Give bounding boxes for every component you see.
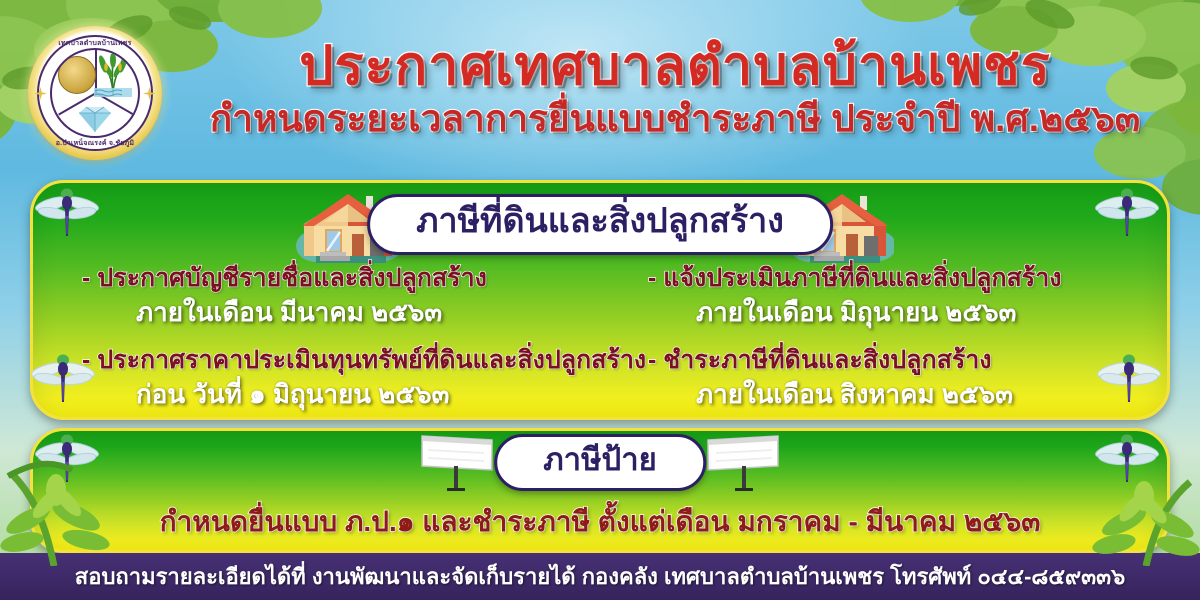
item-title: - ประกาศราคาประเมินทุนทรัพย์ที่ดินและสิ่… <box>82 344 590 376</box>
land-building-tax-label: ภาษีที่ดินและสิ่งปลูกสร้าง <box>416 200 784 244</box>
crop-plant-icon <box>92 54 134 98</box>
contact-footer: สอบถามรายละเอียดได้ที่ งานพัฒนาและจัดเก็… <box>0 553 1200 600</box>
list-item: - แจ้งประเมินภาษีที่ดินและสิ่งปลูกสร้าง … <box>648 262 1160 330</box>
land-building-tax-heading: ภาษีที่ดินและสิ่งปลูกสร้าง <box>367 194 833 255</box>
seal-text-bottom: อ.บำเหน็จณรงค์ จ.ชัยภูมิ <box>28 138 162 149</box>
list-item: - ประกาศราคาประเมินทุนทรัพย์ที่ดินและสิ่… <box>82 344 590 412</box>
item-deadline: ภายในเดือน มีนาคม ๒๕๖๓ <box>82 296 590 330</box>
municipality-seal-icon: เทศบาลตำบลบ้านเพชร อ.บำเหน็จณรงค์ จ.ชัยภ… <box>28 26 162 160</box>
signboard-tax-heading: ภาษีป้าย <box>494 434 706 491</box>
item-title: - ประกาศบัญชีรายชื่อและสิ่งปลูกสร้าง <box>82 262 590 294</box>
signboard-tax-label: ภาษีป้าย <box>543 440 657 480</box>
dragonfly-icon <box>34 186 100 242</box>
dragonfly-icon <box>1096 352 1162 408</box>
billboard-icon <box>700 430 786 492</box>
list-item: - ชำระภาษีที่ดินและสิ่งปลูกสร้าง ภายในเด… <box>648 344 1160 412</box>
billboard-icon <box>414 430 500 492</box>
announcement-banner: เทศบาลตำบลบ้านเพชร อ.บำเหน็จณรงค์ จ.ชัยภ… <box>0 0 1200 600</box>
right-column: - แจ้งประเมินภาษีที่ดินและสิ่งปลูกสร้าง … <box>600 262 1170 426</box>
dragonfly-icon <box>1094 186 1160 242</box>
dragonfly-icon <box>1094 432 1160 488</box>
land-building-tax-content: - ประกาศบัญชีรายชื่อและสิ่งปลูกสร้าง ภาย… <box>30 262 1170 426</box>
page-title: ประกาศเทศบาลตำบลบ้านเพชร <box>175 38 1175 95</box>
item-deadline: ภายในเดือน สิงหาคม ๒๕๖๓ <box>648 378 1160 412</box>
signboard-tax-deadline: กำหนดยื่นแบบ ภ.ป.๑ และชำระภาษี ตั้งแต่เด… <box>30 500 1170 544</box>
left-column: - ประกาศบัญชีรายชื่อและสิ่งปลูกสร้าง ภาย… <box>30 262 600 426</box>
item-deadline: ภายในเดือน มิถุนายน ๒๕๖๓ <box>648 296 1160 330</box>
gold-medallion-icon <box>58 56 96 94</box>
dragonfly-icon <box>34 432 100 488</box>
item-title: - แจ้งประเมินภาษีที่ดินและสิ่งปลูกสร้าง <box>648 262 1160 294</box>
item-title: - ชำระภาษีที่ดินและสิ่งปลูกสร้าง <box>648 344 1160 376</box>
dragonfly-icon <box>30 352 96 408</box>
list-item: - ประกาศบัญชีรายชื่อและสิ่งปลูกสร้าง ภาย… <box>82 262 590 330</box>
diamond-icon <box>73 105 117 133</box>
item-deadline: ก่อน วันที่ ๑ มิถุนายน ๒๕๖๓ <box>82 378 590 412</box>
page-subtitle: กำหนดระยะเวลาการยื่นแบบชำระภาษี ประจำปี … <box>175 99 1175 140</box>
header-titles: ประกาศเทศบาลตำบลบ้านเพชร กำหนดระยะเวลากา… <box>175 38 1175 139</box>
contact-info: สอบถามรายละเอียดได้ที่ งานพัฒนาและจัดเก็… <box>75 559 1125 594</box>
